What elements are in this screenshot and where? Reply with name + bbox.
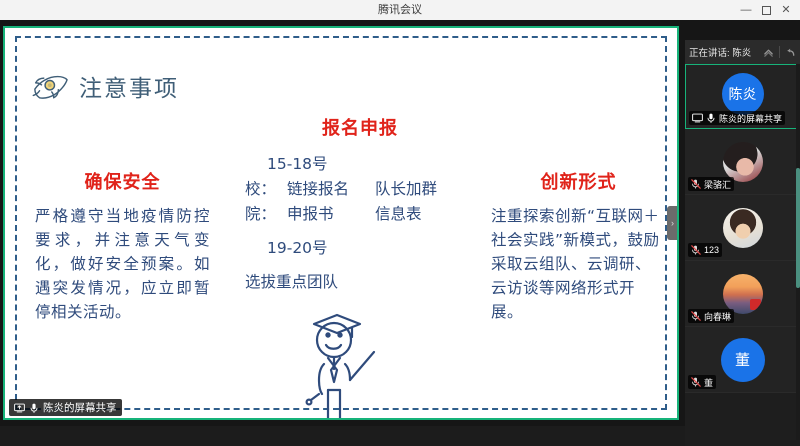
- microphone-muted-icon: [691, 245, 701, 255]
- participants-panel: 正在讲话: 陈炎 陈炎: [685, 40, 800, 446]
- microphone-muted-icon: [691, 179, 701, 189]
- shared-screen-area[interactable]: 注意事项 确保安全 严格遵守当地疫情防控要求，并注意天气变化，做好安全预案。如遇…: [3, 26, 679, 420]
- slide-title: 注意事项: [79, 69, 179, 103]
- header-divider: [779, 46, 780, 58]
- microphone-muted-icon: [691, 377, 701, 387]
- participant-name-bar: 董: [688, 375, 716, 389]
- middle-spacer: [245, 227, 475, 236]
- return-arrow-icon[interactable]: [785, 47, 796, 58]
- maximize-icon: [762, 6, 771, 15]
- participant-name-bar: 陈炎的屏幕共享: [689, 111, 785, 125]
- participant-tile[interactable]: 向春琳: [685, 261, 800, 327]
- microphone-icon: [29, 403, 39, 413]
- middle-line-dates-2: 19-20号: [245, 236, 475, 261]
- active-speaker-label: 正在讲话: 陈炎: [689, 45, 760, 59]
- tencent-meeting-window: 腾讯会议 — ✕: [0, 0, 800, 426]
- column-middle-lines: 15-18号 校：链接报名队长加群 院：申报书信息表 19-20号 选拔重点团队: [245, 152, 475, 296]
- screen-share-icon: [14, 403, 25, 413]
- column-left-heading: 确保安全: [35, 168, 210, 194]
- rocket-icon: [27, 68, 71, 104]
- middle-line-school-item2: 队长加群: [375, 180, 437, 198]
- avatar-initials: 陈炎: [729, 84, 757, 104]
- chevron-collapse-icon[interactable]: [763, 47, 774, 58]
- slide-header: 注意事项: [27, 68, 179, 104]
- minimize-icon: —: [741, 5, 752, 16]
- maximize-button[interactable]: [756, 1, 776, 19]
- avatar: [723, 274, 763, 314]
- column-right-body: 注重探索创新“互联网＋社会实践”新模式，鼓励采取云组队、云调研、云访谈等网络形式…: [491, 204, 666, 324]
- window-controls: — ✕: [736, 0, 796, 20]
- meeting-stage: 注意事项 确保安全 严格遵守当地疫情防控要求，并注意天气变化，做好安全预案。如遇…: [0, 20, 800, 426]
- participant-tile[interactable]: 陈炎 陈炎的屏幕共享: [685, 64, 800, 129]
- middle-line-school-label: 校：: [245, 177, 287, 202]
- screen-share-icon: [692, 113, 703, 123]
- panel-collapse-handle[interactable]: ›: [667, 206, 677, 240]
- microphone-muted-icon: [691, 311, 701, 321]
- participants-panel-header: 正在讲话: 陈炎: [685, 40, 800, 64]
- close-icon: ✕: [781, 5, 790, 16]
- slide-column-right: 创新形式 注重探索创新“互联网＋社会实践”新模式，鼓励采取云组队、云调研、云访谈…: [491, 168, 666, 324]
- avatar: [723, 208, 763, 248]
- participant-name: 向春琳: [704, 310, 731, 323]
- column-right-heading: 创新形式: [491, 168, 666, 194]
- participant-name: 陈炎的屏幕共享: [719, 112, 782, 125]
- column-left-body: 严格遵守当地疫情防控要求，并注意天气变化，做好安全预案。如遇突发情况，应立即暂停…: [35, 204, 210, 324]
- participant-tile[interactable]: 董 董: [685, 327, 800, 393]
- avatar-initials: 董: [735, 349, 750, 370]
- middle-spacer-2: [245, 261, 475, 270]
- window-title: 腾讯会议: [0, 0, 800, 20]
- participant-name-bar: 梁骆汇: [688, 177, 734, 191]
- participant-name: 梁骆汇: [704, 178, 731, 191]
- middle-line-college-item2: 信息表: [375, 205, 422, 223]
- slide-column-left: 确保安全 严格遵守当地疫情防控要求，并注意天气变化，做好安全预案。如遇突发情况，…: [35, 168, 210, 324]
- middle-line-college-item1: 申报书: [287, 202, 375, 227]
- avatar: [723, 142, 763, 182]
- slide-column-middle: 报名申报 15-18号 校：链接报名队长加群 院：申报书信息表 19-20号 选…: [245, 114, 475, 296]
- screen-share-label-text: 陈炎的屏幕共享: [43, 400, 117, 415]
- microphone-icon: [706, 113, 716, 123]
- middle-line-school-item1: 链接报名: [287, 177, 375, 202]
- participant-tile[interactable]: 123: [685, 195, 800, 261]
- participant-tiles[interactable]: 陈炎 陈炎的屏幕共享: [685, 64, 800, 440]
- minimize-button[interactable]: —: [736, 1, 756, 19]
- graduate-stick-figure-icon: [297, 304, 397, 418]
- avatar: 陈炎: [722, 73, 764, 115]
- participant-name-bar: 123: [688, 243, 722, 257]
- title-bar: 腾讯会议 — ✕: [0, 0, 800, 21]
- participant-tile[interactable]: 梁骆汇: [685, 129, 800, 195]
- screen-share-label: 陈炎的屏幕共享: [9, 399, 122, 416]
- presentation-slide: 注意事项 确保安全 严格遵守当地疫情防控要求，并注意天气变化，做好安全预案。如遇…: [5, 28, 677, 418]
- middle-line-college-label: 院：: [245, 202, 287, 227]
- participants-scrollbar[interactable]: [796, 64, 800, 440]
- participant-name: 123: [704, 245, 719, 255]
- participant-name-bar: 向春琳: [688, 309, 734, 323]
- middle-line-dates-1: 15-18号: [245, 152, 475, 177]
- middle-line-college: 院：申报书信息表: [245, 202, 475, 227]
- column-middle-heading: 报名申报: [245, 114, 475, 140]
- middle-line-selection: 选拔重点团队: [245, 270, 475, 295]
- scrollbar-thumb[interactable]: [796, 168, 800, 288]
- close-button[interactable]: ✕: [776, 1, 796, 19]
- avatar: 董: [721, 338, 765, 382]
- chevron-right-icon: ›: [671, 218, 674, 228]
- participant-name: 董: [704, 376, 713, 389]
- middle-line-school: 校：链接报名队长加群: [245, 177, 475, 202]
